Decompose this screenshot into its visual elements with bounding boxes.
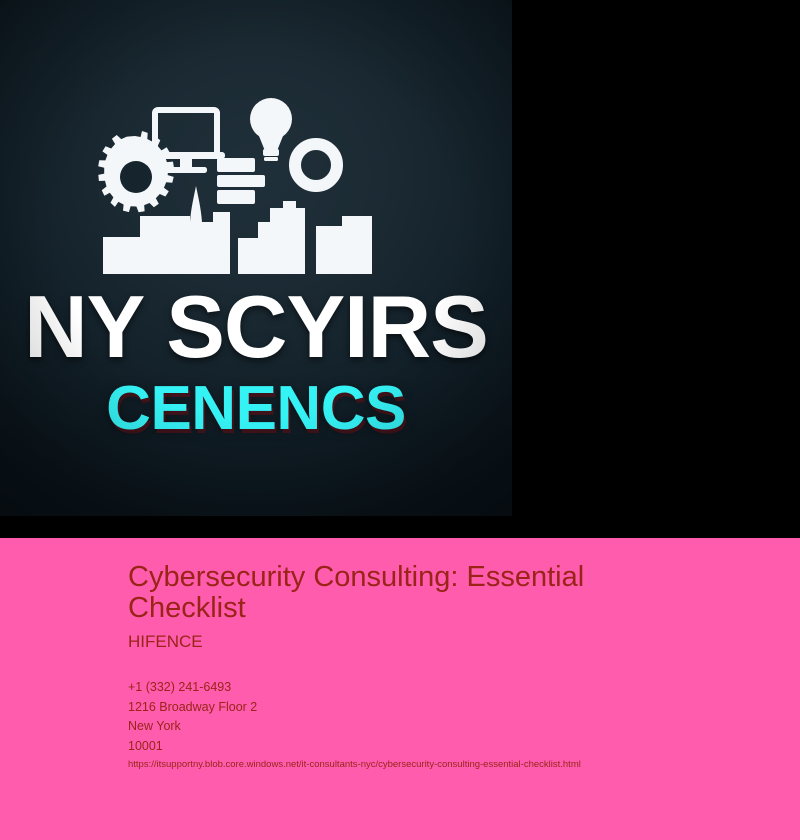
brand-name: HIFENCE xyxy=(128,632,203,652)
info-panel: Cybersecurity Consulting: Essential Chec… xyxy=(0,538,800,840)
lightbulb-icon xyxy=(250,98,292,161)
contact-zip: 10001 xyxy=(128,737,257,757)
hero-band: NY SCYIRS CENENCS xyxy=(0,0,800,538)
gear-icon xyxy=(98,131,174,212)
contact-phone: +1 (332) 241-6493 xyxy=(128,678,257,698)
contact-street: 1216 Broadway Floor 2 xyxy=(128,698,257,718)
ring-icon xyxy=(295,144,337,186)
hero-image: NY SCYIRS CENENCS xyxy=(0,0,512,516)
contact-city: New York xyxy=(128,717,257,737)
icon-cluster xyxy=(0,0,512,300)
source-url-link[interactable]: https://itsupportny.blob.core.windows.ne… xyxy=(128,758,581,771)
hero-headline: NY SCYIRS xyxy=(24,283,488,371)
page-title: Cybersecurity Consulting: Essential Chec… xyxy=(128,562,688,624)
contact-block: +1 (332) 241-6493 1216 Broadway Floor 2 … xyxy=(128,678,257,756)
hero-subheadline: CENENCS xyxy=(106,378,406,440)
documents-icon xyxy=(217,158,265,204)
